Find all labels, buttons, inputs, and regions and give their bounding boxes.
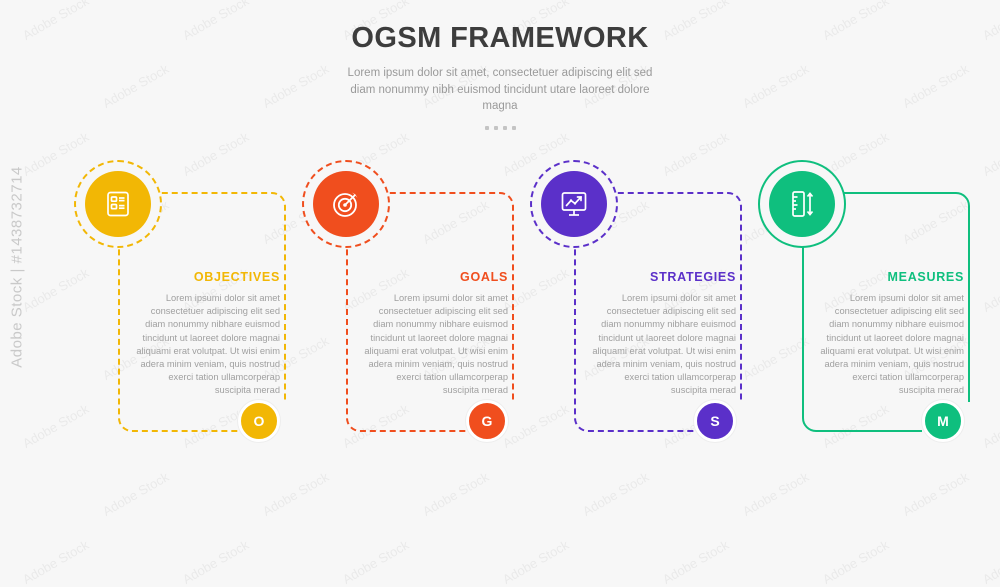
watermark-tile: Adobe Stock [820,537,891,587]
strategy-board-icon [541,171,607,237]
watermark-tile: Adobe Stock [980,537,1000,587]
step-badge[interactable] [74,160,162,248]
header: OGSM FRAMEWORK Lorem ipsum dolor sit ame… [0,22,1000,130]
step-badge[interactable] [758,160,846,248]
dot [503,126,507,130]
dot [512,126,516,130]
watermark-tile: Adobe Stock [180,537,251,587]
step-marker[interactable]: O [238,400,280,442]
ogsm-step-measures: MEASURESLorem ipsumi dolor sit amet cons… [744,150,984,480]
step-label: MEASURES [816,270,964,284]
step-description: Lorem ipsumi dolor sit amet consectetuer… [588,292,736,398]
step-description: Lorem ipsumi dolor sit amet consectetuer… [132,292,280,398]
step-marker[interactable]: M [922,400,964,442]
step-content: GOALSLorem ipsumi dolor sit amet consect… [360,270,508,398]
step-content: MEASURESLorem ipsumi dolor sit amet cons… [816,270,964,398]
page-title: OGSM FRAMEWORK [0,22,1000,55]
step-badge[interactable] [302,160,390,248]
step-content: OBJECTIVESLorem ipsumi dolor sit amet co… [132,270,280,398]
watermark-tile: Adobe Stock [340,537,411,587]
target-icon [313,171,379,237]
ruler-icon [769,171,835,237]
step-label: GOALS [360,270,508,284]
page-subtitle: Lorem ipsum dolor sit amet, consectetuer… [340,65,660,115]
ogsm-step-strategies: STRATEGIESLorem ipsumi dolor sit amet co… [516,150,756,480]
watermark-tile: Adobe Stock [500,537,571,587]
dot [485,126,489,130]
watermark-tile: Adobe Stock [660,537,731,587]
step-marker[interactable]: G [466,400,508,442]
step-label: OBJECTIVES [132,270,280,284]
step-description: Lorem ipsumi dolor sit amet consectetuer… [360,292,508,398]
watermark-tile: Adobe Stock [20,537,91,587]
ogsm-diagram: OBJECTIVESLorem ipsumi dolor sit amet co… [0,150,1000,500]
step-label: STRATEGIES [588,270,736,284]
decorative-dots [0,126,1000,130]
step-description: Lorem ipsumi dolor sit amet consectetuer… [816,292,964,398]
ogsm-step-goals: GOALSLorem ipsumi dolor sit amet consect… [288,150,528,480]
step-content: STRATEGIESLorem ipsumi dolor sit amet co… [588,270,736,398]
checklist-icon [85,171,151,237]
step-badge[interactable] [530,160,618,248]
step-marker[interactable]: S [694,400,736,442]
ogsm-step-objectives: OBJECTIVESLorem ipsumi dolor sit amet co… [60,150,300,480]
dot [494,126,498,130]
